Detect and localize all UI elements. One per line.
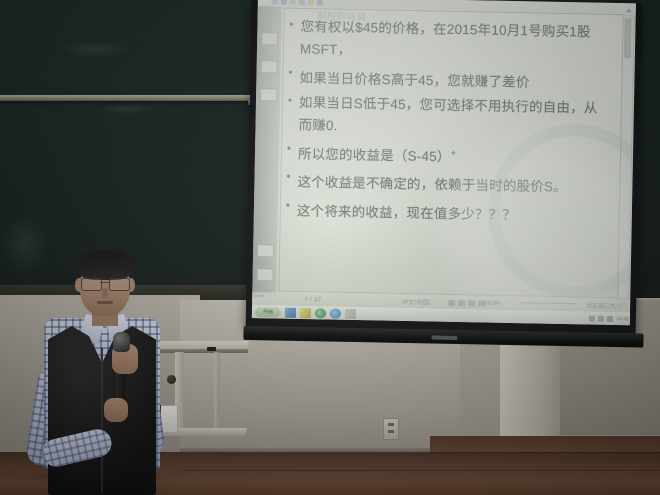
sorter-view-icon[interactable] [458,300,465,306]
bullet-text: 所以您的收益是（S-45） [298,146,451,164]
eyeglass-bridge [100,282,109,283]
presenter-lower-hand [104,398,128,422]
shape-icon[interactable] [290,0,296,5]
lecture-hall-photo: 期权的收益 您有权以$45的价格，在2015年10月1号购买1股MSFT， 如果… [0,0,660,495]
zoom-level-label: 88.8% [484,300,501,306]
volume-icon[interactable] [589,315,595,321]
view-switcher[interactable] [448,299,485,306]
clock-time[interactable]: 10:42 [616,316,629,322]
chalk-tray [0,95,272,101]
zoom-slider[interactable] [520,302,576,304]
chalk-smudge [96,104,156,114]
chalk-smudge [60,40,130,58]
fit-to-window-label[interactable]: 适应窗口大小 [586,300,622,310]
normal-view-icon[interactable] [448,299,455,305]
projection-screen: 期权的收益 您有权以$45的价格，在2015年10月1号购买1股MSFT， 如果… [245,0,660,356]
slide-thumbnail[interactable] [261,60,278,73]
bullet-text: 如果当日价格S高于45，您就赚了差价 [299,70,529,89]
projection-screen-surface: 期权的收益 您有权以$45的价格，在2015年10月1号购买1股MSFT， 如果… [252,0,636,325]
desktop-label: PPT [254,294,264,300]
fill-icon[interactable] [308,0,314,5]
screen-pull-handle[interactable] [431,336,457,340]
undo-icon[interactable] [272,0,278,4]
floor-seam [430,452,660,453]
vest-zipper [101,348,103,493]
redo-icon[interactable] [281,0,287,5]
arrow-icon[interactable] [317,0,323,5]
slide-thumbnail[interactable] [260,88,277,101]
presenter [18,248,178,495]
slide-bullet-item: 您有权以$45的价格，在2015年10月1号购买1股MSFT， [300,17,613,64]
folder-taskbar-item[interactable] [345,308,356,318]
pointer-icon[interactable] [299,0,305,5]
lectern-clip [207,347,216,351]
slide-thumbnail[interactable] [257,268,274,281]
slide-thumbnail[interactable] [257,244,274,257]
scrollbar-thumb[interactable] [624,18,632,58]
presenter-mouth [97,301,113,304]
slide-bullet-item: 如果当日价格S高于45，您就赚了差价 [299,64,611,92]
bullet-text: 您有权以$45的价格，在2015年10月1号购买1股MSFT， [300,19,591,57]
presenter-nose [102,288,108,299]
eyeglass-lens-right [109,278,130,291]
language-indicator: 中文(中国) [402,297,430,307]
floor-seam [180,470,660,471]
lectern-post-secondary [214,352,220,430]
media-player-taskbar-item[interactable] [315,308,326,318]
bullet-text: 这个将来的收益，现在值多少？？？ [297,203,516,222]
notepad-taskbar-item[interactable] [300,307,311,317]
reading-view-icon[interactable] [468,300,475,306]
scroll-up-icon[interactable] [626,8,632,12]
start-button[interactable]: 开始 [255,307,281,317]
bullet-superscript: + [451,147,457,157]
browser-taskbar-item[interactable] [330,308,341,318]
wall-power-outlet [383,418,399,440]
powerpoint-taskbar-item[interactable] [285,307,296,317]
eyeglass-lens-left [81,278,102,291]
slide-page-indicator: 7 / 37 [304,297,322,303]
system-tray[interactable]: 10:42 [589,315,629,322]
network-icon[interactable] [598,315,604,321]
microphone-icon [113,332,130,352]
ime-icon[interactable] [607,315,613,321]
slide-thumbnail-panel[interactable] [252,6,282,296]
slide-thumbnail[interactable] [261,32,278,45]
